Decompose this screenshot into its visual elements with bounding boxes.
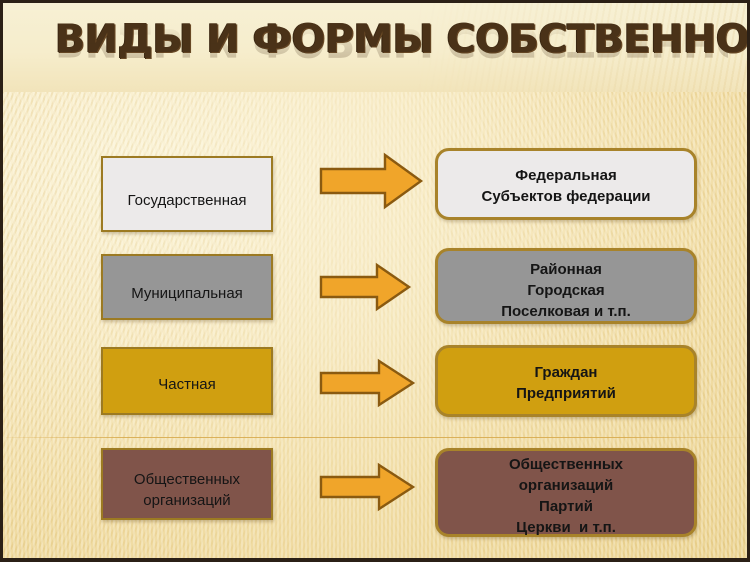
right-box-municipal-lines: Районная Городская Поселковая и т.п. (501, 259, 631, 322)
right-box-private-line-2: Предприятий (516, 383, 616, 404)
right-box-private-lines: Граждан Предприятий (516, 362, 616, 404)
left-box-public-organizations-lines: Общественных организаций (134, 469, 240, 511)
left-box-municipal-label: Муниципальная (131, 283, 243, 304)
left-box-municipal[interactable]: Муниципальная (101, 254, 273, 320)
presentation-slide: ВИДЫ И ФОРМЫ СОБСТВЕННОСТИ ВИДЫ И ФОРМЫ … (0, 0, 750, 562)
right-box-public-organizations[interactable]: Общественных организаций Партий Церкви и… (435, 448, 697, 537)
right-box-public-organizations-line-3: Партий (509, 496, 623, 517)
right-box-municipal-line-3: Поселковая и т.п. (501, 301, 631, 322)
left-box-public-organizations-line-1: Общественных (134, 469, 240, 490)
right-arrow-icon (319, 262, 411, 312)
right-box-state-line-1: Федеральная (481, 165, 650, 186)
right-box-state-line-2: Субъектов федерации (481, 186, 650, 207)
right-box-municipal-line-2: Городская (501, 280, 631, 301)
right-box-public-organizations-line-2: организаций (509, 475, 623, 496)
right-box-public-organizations-line-1: Общественных (509, 454, 623, 475)
slide-title-group: ВИДЫ И ФОРМЫ СОБСТВЕННОСТИ ВИДЫ И ФОРМЫ … (55, 18, 715, 92)
left-box-private-label: Частная (158, 374, 215, 395)
right-arrow-icon (319, 358, 415, 408)
right-box-state-lines: Федеральная Субъектов федерации (481, 165, 650, 207)
right-box-municipal[interactable]: Районная Городская Поселковая и т.п. (435, 248, 697, 324)
right-box-public-organizations-line-4: Церкви и т.п. (509, 517, 623, 538)
left-box-state[interactable]: Государственная (101, 156, 273, 232)
right-box-state[interactable]: Федеральная Субъектов федерации (435, 148, 697, 220)
left-box-private[interactable]: Частная (101, 347, 273, 415)
horizontal-divider-line (6, 437, 744, 438)
right-box-private-line-1: Граждан (516, 362, 616, 383)
right-box-private[interactable]: Граждан Предприятий (435, 345, 697, 417)
right-box-municipal-line-1: Районная (501, 259, 631, 280)
left-box-public-organizations-line-2: организаций (134, 490, 240, 511)
left-box-state-label: Государственная (128, 190, 247, 211)
right-box-public-organizations-lines: Общественных организаций Партий Церкви и… (509, 454, 623, 538)
left-box-public-organizations[interactable]: Общественных организаций (101, 448, 273, 520)
slide-title-reflection: ВИДЫ И ФОРМЫ СОБСТВЕННОСТИ (55, 19, 728, 63)
right-arrow-icon (319, 152, 423, 210)
right-arrow-icon (319, 462, 415, 512)
